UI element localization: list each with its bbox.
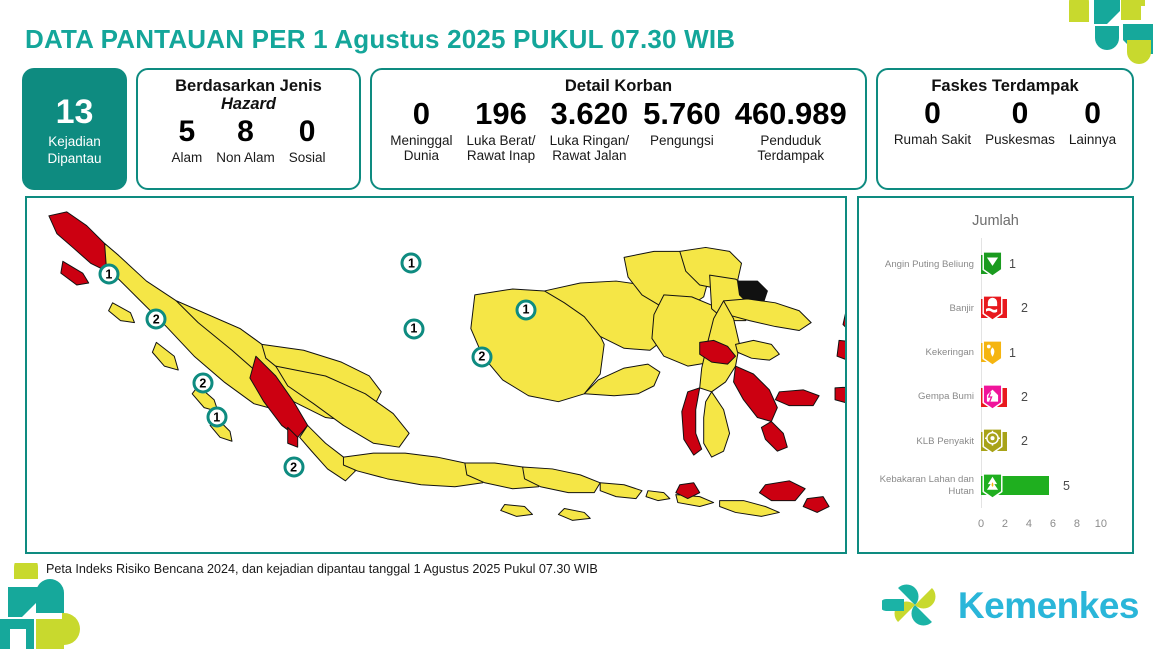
chart-bar-track: 2 <box>981 419 1132 463</box>
stat-rumah-sakit: 0 Rumah Sakit <box>887 98 978 147</box>
stat-label: Puskesmas <box>985 132 1055 147</box>
faskes-stats: 0 Rumah Sakit 0 Puskesmas 0 Lainnya <box>886 95 1124 182</box>
chart-category-label: Angin Puting Beliung <box>859 259 981 270</box>
stat-sosial: 0 Sosial <box>282 116 333 165</box>
chart-category-label: Kebakaran Lahan dan Hutan <box>859 474 981 497</box>
stat-non-alam: 8 Non Alam <box>209 116 282 165</box>
kejadian-count: 13 <box>56 95 94 129</box>
stat-puskesmas: 0 Puskesmas <box>978 98 1062 147</box>
stat-value: 0 <box>299 116 316 148</box>
chart-category-label: Banjir <box>859 303 981 314</box>
stat-label: Non Alam <box>216 150 275 165</box>
map-marker[interactable]: 1 <box>515 299 536 320</box>
chart-category-label: KLB Penyakit <box>859 436 981 447</box>
stat-label: Rumah Sakit <box>894 132 971 147</box>
chart-bar-track: 2 <box>981 286 1132 330</box>
chart-value: 5 <box>1063 479 1070 493</box>
card-title-hazard-plain: Berdasarkan Jenis <box>175 77 322 95</box>
chart-value: 2 <box>1021 434 1028 448</box>
kemenkes-brand: Kemenkes <box>882 575 1139 637</box>
card-jenis-hazard: Berdasarkan Jenis Hazard 5 Alam 8 Non Al… <box>136 68 361 190</box>
disease-outbreak-icon <box>981 428 1004 454</box>
chart-category-label: Gempa Bumi <box>859 391 981 402</box>
axis-tick: 2 <box>1002 518 1008 530</box>
dashboard-page: DATA PANTAUAN PER 1 Agustus 2025 PUKUL 0… <box>0 0 1157 649</box>
card-title-korban: Detail Korban <box>565 77 672 95</box>
tornado-icon <box>981 251 1004 277</box>
card-kejadian-dipantau: 13 Kejadian Dipantau <box>22 68 127 190</box>
card-detail-korban: Detail Korban 0 Meninggal Dunia 196 Luka… <box>370 68 867 190</box>
map-marker[interactable]: 2 <box>146 309 167 330</box>
stat-pengungsi: 5.760 Pengungsi <box>636 98 728 148</box>
stat-label: Penduduk Terdampak <box>757 133 824 163</box>
chart-value: 1 <box>1009 257 1016 271</box>
stat-label: Alam <box>171 150 202 165</box>
stat-label: Luka Ringan/ Rawat Jalan <box>550 133 630 163</box>
summary-cards: 13 Kejadian Dipantau Berdasarkan Jenis H… <box>22 68 1134 190</box>
chart-x-axis: 0 2 4 6 8 10 <box>981 518 1122 534</box>
map-graphic <box>27 198 845 552</box>
chart-value: 1 <box>1009 346 1016 360</box>
earthquake-icon <box>981 384 1004 410</box>
stat-value: 5 <box>178 116 195 148</box>
stat-value: 8 <box>237 116 254 148</box>
chart-row[interactable]: Angin Puting Beliung 1 <box>859 242 1132 286</box>
hazard-count-chart: Jumlah Angin Puting Beliung 1 Banjir <box>857 196 1134 554</box>
stat-value: 5.760 <box>643 98 721 131</box>
stat-label: Luka Berat/ Rawat Inap <box>467 133 536 163</box>
axis-tick: 10 <box>1095 518 1107 530</box>
chart-category-label: Kekeringan <box>859 347 981 358</box>
stat-value: 0 <box>1084 98 1101 130</box>
stat-meninggal-dunia: 0 Meninggal Dunia <box>383 98 459 163</box>
map-marker[interactable]: 1 <box>206 407 227 428</box>
card-title-faskes: Faskes Terdampak <box>931 77 1078 95</box>
page-title: DATA PANTAUAN PER 1 Agustus 2025 PUKUL 0… <box>25 24 735 55</box>
chart-bar-track: 1 <box>981 242 1132 286</box>
chart-bar-track: 2 <box>981 375 1132 419</box>
map-marker[interactable]: 2 <box>283 457 304 478</box>
stat-lainnya: 0 Lainnya <box>1062 98 1123 147</box>
kemenkes-wordmark: Kemenkes <box>958 585 1139 627</box>
card-title-hazard-italic: Hazard <box>221 95 276 113</box>
map-marker[interactable]: 1 <box>403 318 424 339</box>
forest-fire-icon <box>981 473 1004 499</box>
stat-label: Pengungsi <box>650 133 714 148</box>
kejadian-label: Kejadian Dipantau <box>22 134 127 168</box>
stat-value: 0 <box>1012 98 1029 130</box>
stat-luka-ringan: 3.620 Luka Ringan/ Rawat Jalan <box>543 98 637 163</box>
chart-value: 2 <box>1021 390 1028 404</box>
flood-icon <box>981 295 1004 321</box>
chart-title: Jumlah <box>859 213 1132 229</box>
stat-value: 0 <box>924 98 941 130</box>
chart-bar-track: 1 <box>981 331 1132 375</box>
stat-value: 0 <box>413 98 430 131</box>
map-marker[interactable]: 1 <box>401 253 422 274</box>
stat-label: Sosial <box>289 150 326 165</box>
korban-stats: 0 Meninggal Dunia 196 Luka Berat/ Rawat … <box>380 95 857 182</box>
card-title-hazard: Berdasarkan Jenis Hazard <box>146 77 351 113</box>
hazard-stats: 5 Alam 8 Non Alam 0 Sosial <box>146 113 351 182</box>
card-faskes-terdampak: Faskes Terdampak 0 Rumah Sakit 0 Puskesm… <box>876 68 1134 190</box>
chart-row[interactable]: Banjir 2 <box>859 286 1132 330</box>
drought-icon <box>981 340 1004 366</box>
stat-luka-berat: 196 Luka Berat/ Rawat Inap <box>460 98 543 163</box>
stat-penduduk-terdampak: 460.989 Penduduk Terdampak <box>728 98 854 163</box>
kemenkes-logo-icon <box>882 575 948 637</box>
stat-label: Meninggal Dunia <box>390 133 452 163</box>
axis-tick: 0 <box>978 518 984 530</box>
stat-value: 460.989 <box>735 98 847 131</box>
stat-value: 3.620 <box>551 98 629 131</box>
chart-row[interactable]: Gempa Bumi 2 <box>859 375 1132 419</box>
chart-value: 2 <box>1021 301 1028 315</box>
axis-tick: 4 <box>1026 518 1032 530</box>
stat-label: Lainnya <box>1069 132 1116 147</box>
decorative-logo-bottom-left <box>0 563 98 649</box>
map-marker[interactable]: 1 <box>98 264 119 285</box>
chart-bars: Angin Puting Beliung 1 Banjir <box>859 242 1132 508</box>
map-marker[interactable]: 2 <box>471 346 492 367</box>
footer-note: Peta Indeks Risiko Bencana 2024, dan kej… <box>46 562 598 576</box>
stat-alam: 5 Alam <box>164 116 209 165</box>
map-marker[interactable]: 2 <box>192 373 213 394</box>
decorative-logo-top-right <box>1061 0 1157 68</box>
indonesia-risk-map[interactable]: 1 2 2 1 2 1 1 1 2 <box>25 196 847 554</box>
chart-row[interactable]: Kekeringan 1 <box>859 331 1132 375</box>
chart-bar-track: 5 <box>981 464 1132 508</box>
axis-tick: 6 <box>1050 518 1056 530</box>
chart-row[interactable]: Kebakaran Lahan dan Hutan 5 <box>859 464 1132 508</box>
chart-row[interactable]: KLB Penyakit 2 <box>859 419 1132 463</box>
axis-tick: 8 <box>1074 518 1080 530</box>
stat-value: 196 <box>475 98 527 131</box>
